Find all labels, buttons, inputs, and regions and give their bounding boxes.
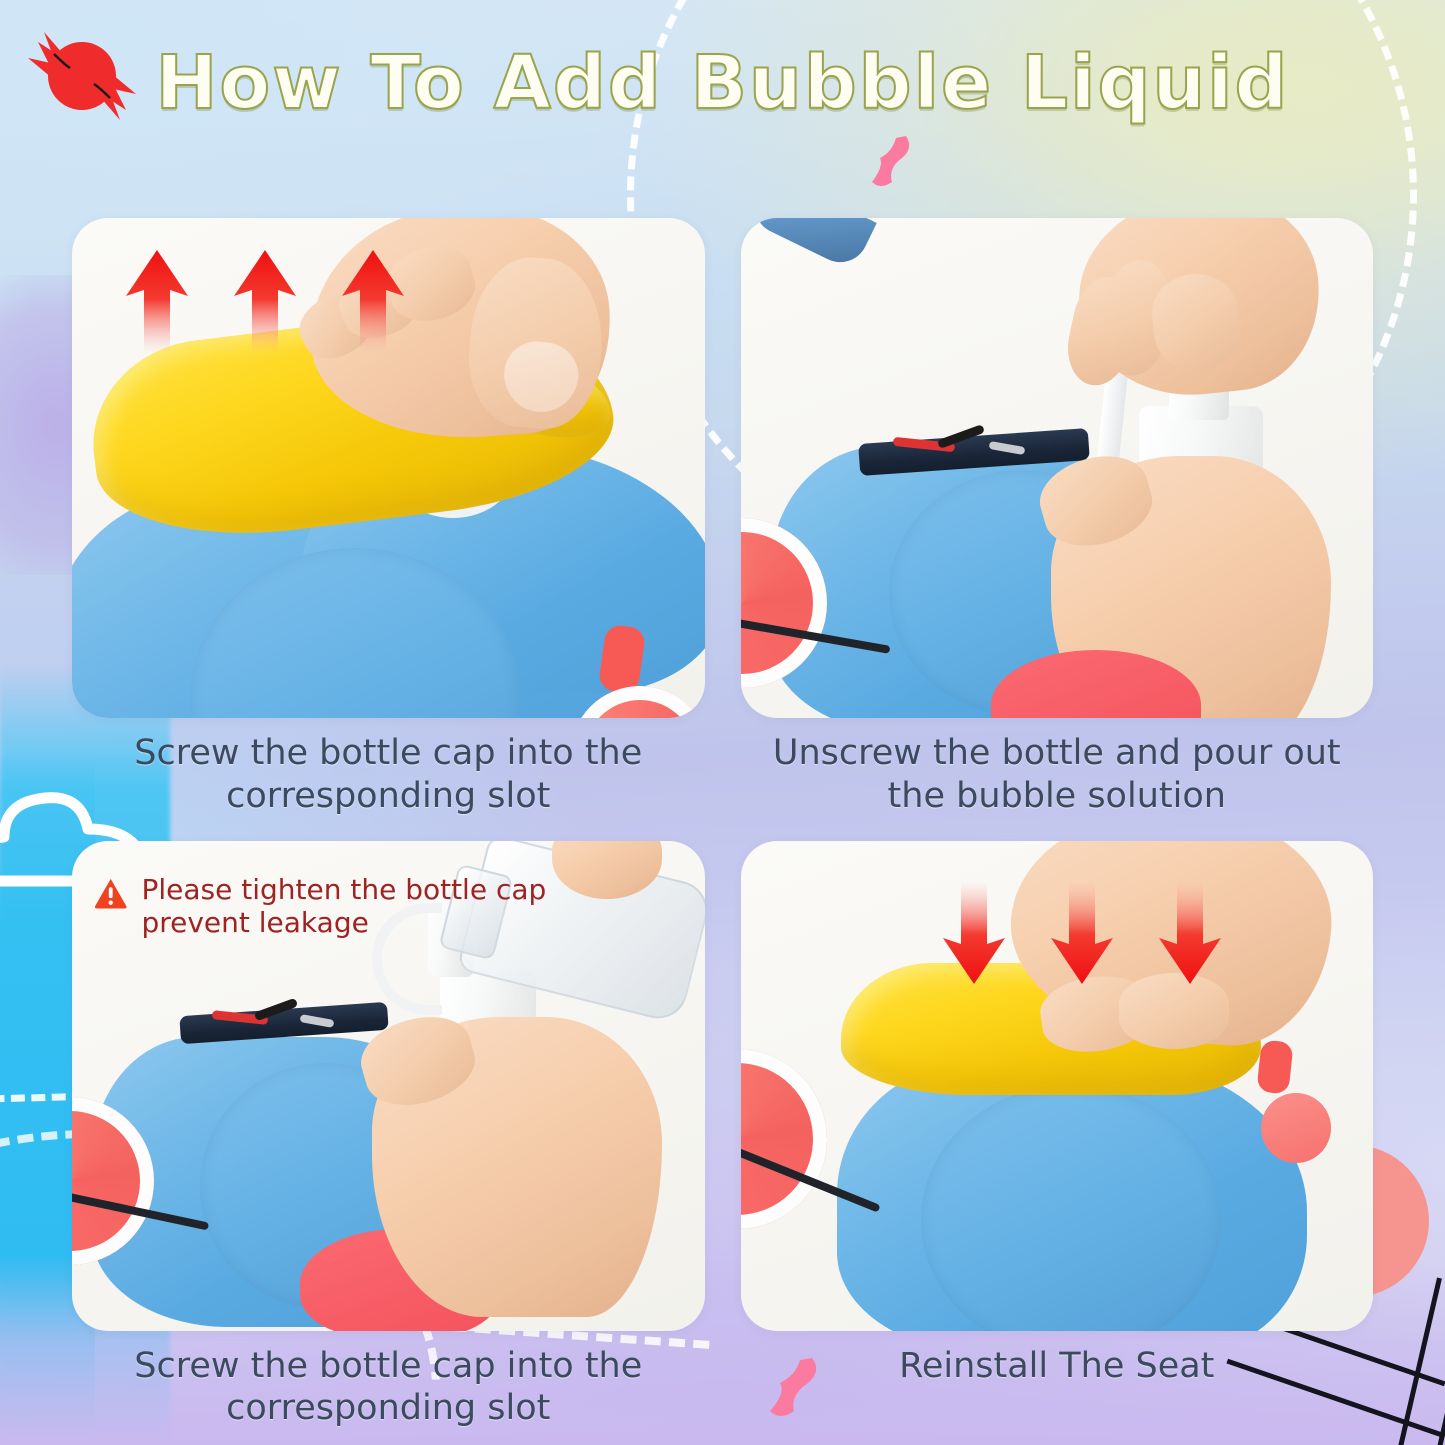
step-card-3: Please tighten the bottle cap prevent le… bbox=[72, 841, 705, 1445]
warning-notice: Please tighten the bottle cap prevent le… bbox=[94, 869, 554, 940]
step-caption-2: Unscrew the bottle and pour out the bubb… bbox=[741, 732, 1374, 817]
warning-text: Please tighten the bottle cap prevent le… bbox=[141, 869, 554, 940]
toy-wheel bbox=[741, 1049, 827, 1229]
step-photo-4 bbox=[741, 841, 1374, 1331]
step-card-4: Reinstall The Seat bbox=[741, 841, 1374, 1445]
arrow-up-icon bbox=[232, 248, 298, 353]
step-photo-3: Please tighten the bottle cap prevent le… bbox=[72, 841, 705, 1331]
warning-triangle-icon bbox=[94, 869, 127, 917]
arrow-down-icon bbox=[1049, 881, 1115, 986]
step-photo-1 bbox=[72, 218, 705, 718]
steps-grid: Screw the bottle cap into the correspond… bbox=[0, 218, 1445, 1445]
step-card-1: Screw the bottle cap into the correspond… bbox=[72, 218, 705, 823]
arrows-up-group bbox=[124, 248, 406, 353]
step-caption-4: Reinstall The Seat bbox=[741, 1345, 1374, 1388]
photo-scene-2 bbox=[741, 218, 1374, 718]
arrows-down-group bbox=[941, 881, 1223, 986]
toy-fender bbox=[1261, 1093, 1331, 1163]
arrow-up-icon bbox=[340, 248, 406, 353]
step-card-2: Unscrew the bottle and pour out the bubb… bbox=[741, 218, 1374, 823]
arrow-up-icon bbox=[124, 248, 190, 353]
handlebar bbox=[745, 218, 877, 272]
red-button bbox=[1256, 1039, 1293, 1094]
step-caption-3: Screw the bottle cap into the correspond… bbox=[72, 1345, 705, 1430]
candy-icon bbox=[22, 24, 142, 129]
step-caption-1: Screw the bottle cap into the correspond… bbox=[72, 732, 705, 817]
step-photo-2 bbox=[741, 218, 1374, 718]
arrow-down-icon bbox=[1157, 881, 1223, 986]
arrow-down-icon bbox=[941, 881, 1007, 986]
pink-swoosh-icon bbox=[862, 134, 922, 192]
